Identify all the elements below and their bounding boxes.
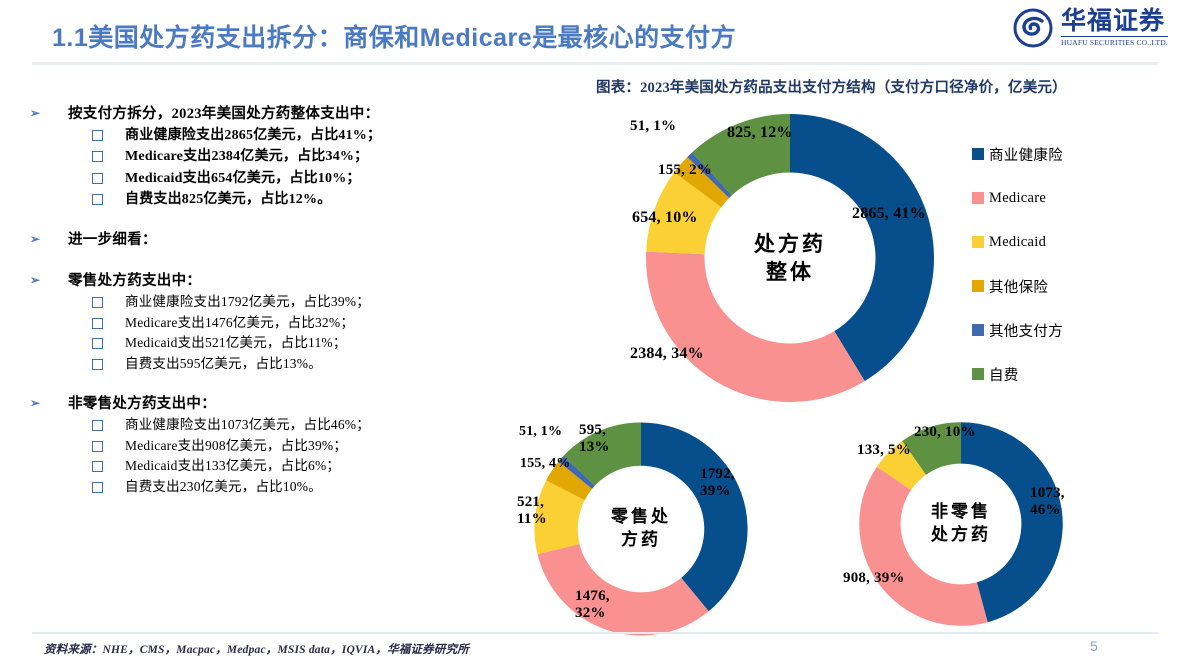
square-bullet-icon	[92, 482, 103, 493]
slice-label: 1792, 39%	[700, 466, 735, 500]
legend-swatch-icon	[972, 192, 984, 204]
spiral-logo-icon	[1013, 8, 1053, 48]
square-bullet-icon	[92, 318, 103, 329]
legend-label: Medicaid	[989, 234, 1046, 251]
bullet-item-level2: Medicaid支出133亿美元，占比6%；	[30, 456, 485, 477]
slice-label: 521, 11%	[517, 494, 547, 528]
chevron-bullet-icon: ➢	[30, 104, 68, 122]
bullet-text: 商业健康险支出1792亿美元，占比39%；	[125, 292, 370, 313]
legend-label: Medicare	[989, 190, 1046, 207]
bullet-text: 进一步细看：	[68, 230, 157, 251]
bullet-text: 自费支出825亿美元，占比12%。	[125, 189, 331, 210]
legend-swatch-icon	[972, 148, 984, 160]
spacer	[30, 258, 485, 271]
slice-label: 654, 10%	[632, 209, 698, 227]
page-number: 5	[1090, 638, 1098, 654]
bullet-block: ➢ 按支付方拆分，2023年美国处方药整体支出中： 商业健康险支出2865亿美元…	[30, 104, 485, 210]
bullet-item-level2: Medicaid支出654亿美元，占比10%；	[30, 168, 485, 189]
donut-svg-overall	[640, 108, 940, 408]
square-bullet-icon	[92, 297, 103, 308]
bullet-item-level1: ➢ 进一步细看：	[30, 230, 485, 251]
square-bullet-icon	[92, 420, 103, 431]
bullet-item-level2: 商业健康险支出1792亿美元，占比39%；	[30, 292, 485, 313]
donut-chart-overall: 处方药 整体	[640, 108, 940, 408]
legend-item: Medicare	[972, 176, 1063, 220]
donut-chart-retail: 零售处 方药	[530, 418, 752, 640]
slice-label: 825, 12%	[727, 124, 793, 142]
donut-slice	[859, 467, 987, 626]
donut-slice	[646, 252, 865, 402]
slice-label: 2865, 41%	[852, 205, 926, 223]
spacer	[30, 217, 485, 230]
square-bullet-icon	[92, 151, 103, 162]
bullet-text: 零售处方药支出中：	[68, 271, 201, 292]
bullet-item-level2: 商业健康险支出1073亿美元，占比46%；	[30, 415, 485, 436]
square-bullet-icon	[92, 441, 103, 452]
bullet-list: ➢ 按支付方拆分，2023年美国处方药整体支出中： 商业健康险支出2865亿美元…	[30, 104, 485, 504]
bullet-text: Medicare支出908亿美元，占比39%；	[125, 436, 347, 457]
bullet-item-level2: 自费支出595亿美元，占比13%。	[30, 354, 485, 375]
bullet-item-level2: 商业健康险支出2865亿美元，占比41%；	[30, 125, 485, 146]
legend-item: 自费	[972, 352, 1063, 396]
footer-divider	[32, 632, 1158, 634]
bullet-text: Medicare支出2384亿美元，占比34%；	[125, 146, 368, 167]
legend-swatch-icon	[972, 236, 984, 248]
legend-label: 自费	[989, 364, 1019, 385]
slice-label: 51, 1%	[519, 424, 562, 440]
slice-label: 908, 39%	[843, 570, 905, 587]
square-bullet-icon	[92, 461, 103, 472]
square-bullet-icon	[92, 338, 103, 349]
donut-slice	[641, 422, 748, 611]
bullet-item-level2: Medicare支出908亿美元，占比39%；	[30, 436, 485, 457]
chevron-bullet-icon: ➢	[30, 271, 68, 289]
bullet-text: 商业健康险支出1073亿美元，占比46%；	[125, 415, 370, 436]
bullet-block: ➢ 非零售处方药支出中： 商业健康险支出1073亿美元，占比46%； Medic…	[30, 394, 485, 497]
bullet-block: ➢ 进一步细看：	[30, 230, 485, 251]
legend-item: 其他保险	[972, 264, 1063, 308]
legend-label: 商业健康险	[989, 144, 1063, 165]
chevron-bullet-icon: ➢	[30, 230, 68, 248]
bullet-item-level2: Medicare支出1476亿美元，占比32%；	[30, 313, 485, 334]
legend-item: Medicaid	[972, 220, 1063, 264]
bullet-item-level2: Medicare支出2384亿美元，占比34%；	[30, 146, 485, 167]
bullet-text: 自费支出230亿美元，占比10%。	[125, 477, 322, 498]
bullet-text: 按支付方拆分，2023年美国处方药整体支出中：	[68, 104, 379, 125]
spacer	[30, 381, 485, 394]
brand-name-cn: 华福证券	[1061, 9, 1165, 35]
bullet-text: Medicaid支出521亿美元，占比11%；	[125, 333, 347, 354]
chart-legend: 商业健康险 Medicare Medicaid 其他保险 其他支付方 自费	[972, 132, 1063, 396]
bullet-item-level1: ➢ 非零售处方药支出中：	[30, 394, 485, 415]
chevron-bullet-icon: ➢	[30, 394, 68, 412]
slice-label: 155, 2%	[658, 162, 712, 179]
slice-label: 230, 10%	[914, 424, 976, 441]
slice-label: 595, 13%	[579, 422, 610, 456]
legend-swatch-icon	[972, 368, 984, 380]
slice-label: 2384, 34%	[630, 345, 704, 363]
legend-swatch-icon	[972, 280, 984, 292]
source-note: 资料来源：NHE，CMS，Macpac，Medpac，MSIS data，IQV…	[44, 641, 469, 657]
slice-label: 133, 5%	[857, 442, 911, 459]
bullet-text: Medicare支出1476亿美元，占比32%；	[125, 313, 354, 334]
legend-item: 其他支付方	[972, 308, 1063, 352]
square-bullet-icon	[92, 359, 103, 370]
slice-label: 1476, 32%	[575, 588, 610, 622]
slice-label: 155, 4%	[520, 456, 570, 472]
bullet-text: Medicaid支出654亿美元，占比10%；	[125, 168, 361, 189]
brand-logo: 华福证券 HUAFU SECURITIES CO.,LTD.	[1013, 8, 1168, 48]
bullet-item-level2: 自费支出230亿美元，占比10%。	[30, 477, 485, 498]
square-bullet-icon	[92, 130, 103, 141]
legend-swatch-icon	[972, 324, 984, 336]
legend-label: 其他支付方	[989, 320, 1063, 341]
slice-label: 1073, 46%	[1030, 485, 1065, 519]
bullet-text: 商业健康险支出2865亿美元，占比41%；	[125, 125, 381, 146]
slice-label: 51, 1%	[630, 118, 676, 135]
bullet-item-level1: ➢ 零售处方药支出中：	[30, 271, 485, 292]
bullet-block: ➢ 零售处方药支出中： 商业健康险支出1792亿美元，占比39%； Medica…	[30, 271, 485, 374]
header-divider	[32, 62, 1158, 65]
chart-caption: 图表：2023年美国处方药品支出支付方结构（支付方口径净价，亿美元）	[596, 76, 1067, 97]
donut-svg-retail	[530, 418, 752, 640]
bullet-text: 非零售处方药支出中：	[68, 394, 216, 415]
bullet-text: 自费支出595亿美元，占比13%。	[125, 354, 322, 375]
bullet-text: Medicaid支出133亿美元，占比6%；	[125, 456, 340, 477]
square-bullet-icon	[92, 173, 103, 184]
legend-label: 其他保险	[989, 276, 1048, 297]
brand-name-en: HUAFU SECURITIES CO.,LTD.	[1061, 36, 1168, 47]
donut-slice	[537, 544, 708, 636]
bullet-item-level2: Medicaid支出521亿美元，占比11%；	[30, 333, 485, 354]
bullet-item-level1: ➢ 按支付方拆分，2023年美国处方药整体支出中：	[30, 104, 485, 125]
square-bullet-icon	[92, 194, 103, 205]
page-title: 1.1美国处方药支出拆分：商保和Medicare是最核心的支付方	[52, 18, 736, 54]
legend-item: 商业健康险	[972, 132, 1063, 176]
bullet-item-level2: 自费支出825亿美元，占比12%。	[30, 189, 485, 210]
